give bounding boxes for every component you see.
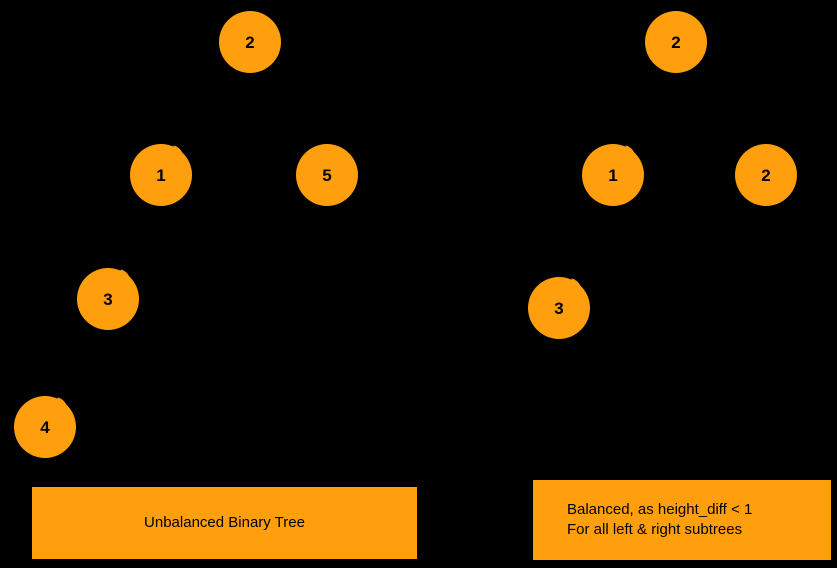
right-tree-caption-box: Balanced, as height_diff < 1 For all lef… [533,480,831,560]
left-tree-caption-box: Unbalanced Binary Tree [32,487,417,559]
right-tree-node-2[interactable]: 2 [735,144,797,206]
left-tree-caption-text: Unbalanced Binary Tree [144,513,305,533]
left-tree-node-2[interactable]: 2 [219,11,281,73]
right-tree-caption-text: Balanced, as height_diff < 1 For all lef… [567,500,752,541]
diagram-canvas: 21534 2123 Unbalanced Binary Tree Balanc… [0,0,837,568]
right-tree-node-2[interactable]: 2 [645,11,707,73]
left-tree-node-5[interactable]: 5 [296,144,358,206]
